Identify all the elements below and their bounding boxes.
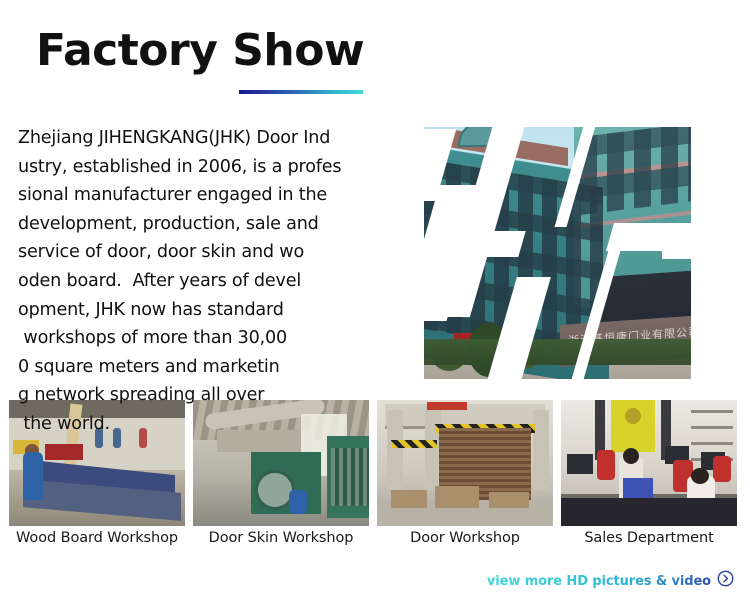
machine-grill: [331, 448, 369, 506]
factory-show-page: Factory Show Zhejiang JIHENGKANG(JHK) Do…: [0, 0, 750, 613]
building-window-grid-right: [580, 127, 691, 215]
employee-2-hair: [691, 468, 709, 484]
view-more-link-label: view more HD pictures & video: [487, 574, 711, 589]
desk-partition: [561, 498, 737, 526]
view-more-link[interactable]: view more HD pictures & video: [487, 570, 734, 592]
caption-wood-board-workshop: Wood Board Workshop: [9, 530, 185, 546]
chevron-right-circle-icon[interactable]: [717, 570, 734, 592]
wall-logo-circle: [625, 408, 641, 424]
hedge-row: [424, 339, 691, 365]
chair-1: [597, 450, 615, 480]
jhk-overlay-slash-5: [482, 231, 525, 257]
worker-foreground: [23, 452, 43, 500]
press-post-right: [533, 410, 549, 490]
worker: [289, 490, 307, 514]
thumbnail-captions: Wood Board Workshop Door Skin Workshop D…: [9, 530, 742, 546]
factory-building-photo: 浙江基恒康门业有限公司 ZHEJIANG JIHENGKANG DOOR IND…: [424, 127, 691, 379]
red-sign: [427, 402, 467, 410]
crate-2: [435, 486, 479, 508]
monitor-1: [567, 454, 593, 474]
caption-door-skin-workshop: Door Skin Workshop: [193, 530, 369, 546]
title-underline-accent: [239, 90, 363, 94]
employee-1-hair: [623, 448, 639, 464]
crate-1: [391, 490, 427, 508]
thumbnail-sales-department[interactable]: [561, 400, 737, 526]
crate-3: [489, 492, 529, 508]
company-intro-paragraph: Zhejiang JIHENGKANG(JHK) Door Ind ustry,…: [18, 124, 430, 439]
caption-door-workshop: Door Workshop: [377, 530, 553, 546]
caption-sales-department: Sales Department: [561, 530, 737, 546]
jhk-overlay-slash-10: [662, 245, 691, 259]
red-equipment: [45, 444, 83, 460]
page-title: Factory Show: [36, 28, 436, 74]
chair-3: [713, 456, 731, 482]
hazard-stripe-left: [391, 440, 437, 448]
factory-hero-image: 浙江基恒康门业有限公司 ZHEJIANG JIHENGKANG DOOR IND…: [424, 127, 691, 379]
title-block: Factory Show: [36, 28, 436, 74]
